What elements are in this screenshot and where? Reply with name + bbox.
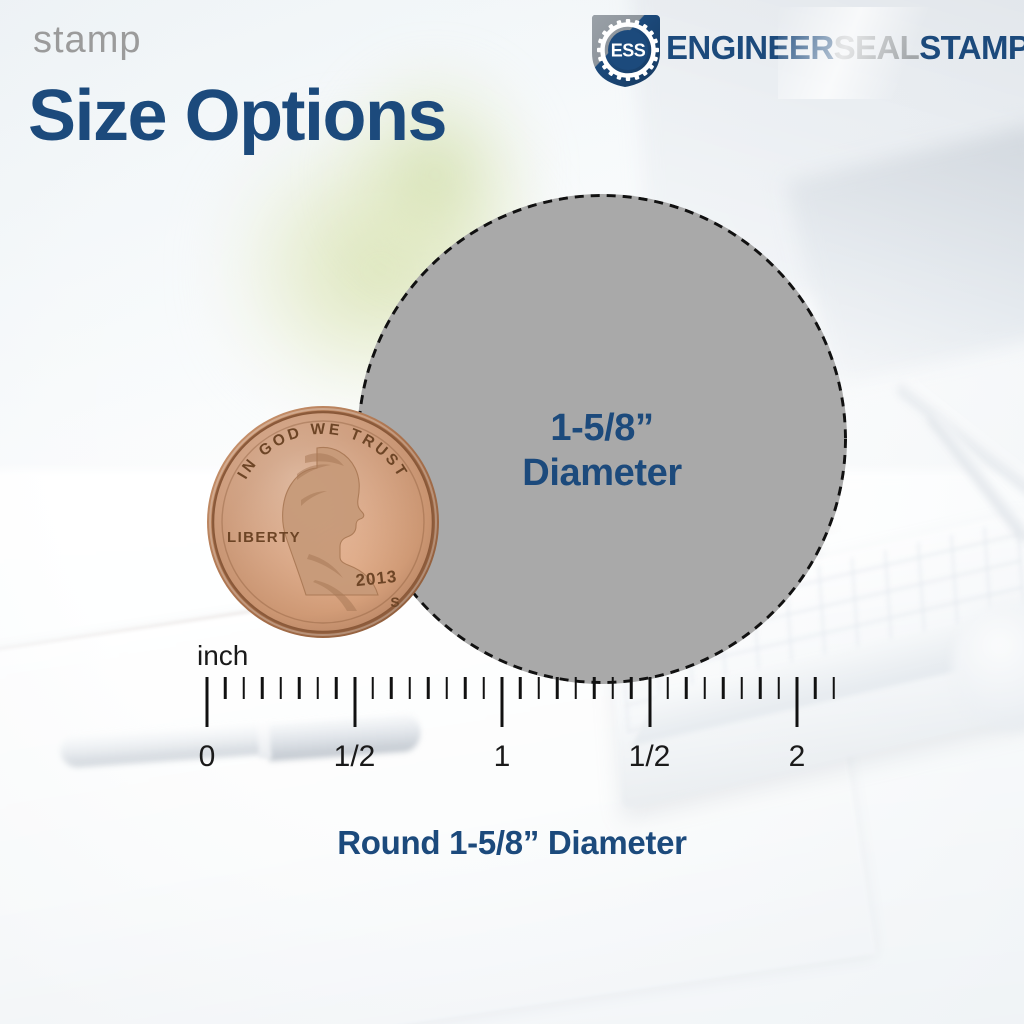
- ruler-tick-minor: [740, 677, 743, 699]
- ruler-tick-minor: [667, 677, 670, 699]
- ruler-tick-minor: [445, 677, 448, 699]
- ruler-tick-minor: [611, 677, 614, 699]
- ruler-tick-minor: [409, 677, 412, 699]
- ruler-tick-minor: [390, 677, 393, 699]
- ruler-tick-minor: [519, 677, 522, 699]
- ruler-tick-minor: [759, 677, 762, 699]
- logo-word-stamps: STAMPS: [919, 29, 1024, 66]
- ruler-tick-minor: [335, 677, 338, 699]
- brand-logo[interactable]: ESS ENGINEERSEALSTAMPS.COM: [588, 11, 1018, 89]
- ruler-tick-minor: [685, 677, 688, 699]
- ruler-tick-minor: [482, 677, 485, 699]
- logo-wordmark: ENGINEERSEALSTAMPS.COM: [666, 31, 1024, 64]
- ruler-tick-major: [501, 677, 504, 727]
- logo-word-seal: SEAL: [834, 29, 920, 66]
- ruler-tick-minor: [224, 677, 227, 699]
- ruler-tick-label: 1/2: [334, 740, 376, 774]
- ruler-tick-minor: [814, 677, 817, 699]
- ruler-tick-minor: [630, 677, 633, 699]
- ruler-tick-minor: [704, 677, 707, 699]
- ruler-tick-minor: [777, 677, 780, 699]
- gear-shield-icon: ESS: [588, 11, 668, 89]
- ruler-tick-minor: [538, 677, 541, 699]
- ruler-tick-minor: [427, 677, 430, 699]
- ruler-tick-major: [353, 677, 356, 727]
- inch-ruler: inch 01/211/22: [0, 630, 1024, 820]
- ruler-tick-minor: [464, 677, 467, 699]
- ruler-tick-minor: [372, 677, 375, 699]
- us-penny-coin: IN GOD WE TRUST LIBERTY 2013 S: [205, 404, 441, 640]
- ruler-tick-minor: [722, 677, 725, 699]
- ruler-tick-label: 0: [199, 740, 216, 774]
- stamp-size-label: 1-5/8” Diameter: [522, 406, 681, 496]
- ruler-unit-label: inch: [197, 640, 248, 672]
- eyebrow-label: stamp: [33, 21, 141, 59]
- ruler-tick-label: 1/2: [629, 740, 671, 774]
- ruler-tick-major: [648, 677, 651, 727]
- ruler-tick-minor: [298, 677, 301, 699]
- ruler-tick-minor: [556, 677, 559, 699]
- coin-liberty-text: LIBERTY: [227, 529, 301, 546]
- ruler-tick-major: [206, 677, 209, 727]
- ruler-tick-minor: [261, 677, 264, 699]
- ruler-tick-minor: [575, 677, 578, 699]
- ruler-tick-minor: [833, 677, 836, 699]
- header: stamp Size Options: [0, 0, 1024, 170]
- stamp-size-line-1: 1-5/8”: [522, 406, 681, 451]
- ruler-tick-major: [796, 677, 799, 727]
- stamp-size-line-2: Diameter: [522, 451, 681, 496]
- ruler-tick-minor: [280, 677, 283, 699]
- ruler-tick-minor: [243, 677, 246, 699]
- size-caption: Round 1-5/8” Diameter: [0, 824, 1024, 862]
- ruler-tick-label: 2: [789, 740, 806, 774]
- ruler-tick-minor: [593, 677, 596, 699]
- size-options-graphic: stamp Size Options: [0, 0, 1024, 1024]
- svg-text:ESS: ESS: [611, 41, 646, 61]
- logo-word-engineer: ENGINEER: [666, 29, 834, 66]
- ruler-tick-minor: [316, 677, 319, 699]
- ruler-tick-label: 1: [494, 740, 511, 774]
- page-title: Size Options: [28, 80, 446, 152]
